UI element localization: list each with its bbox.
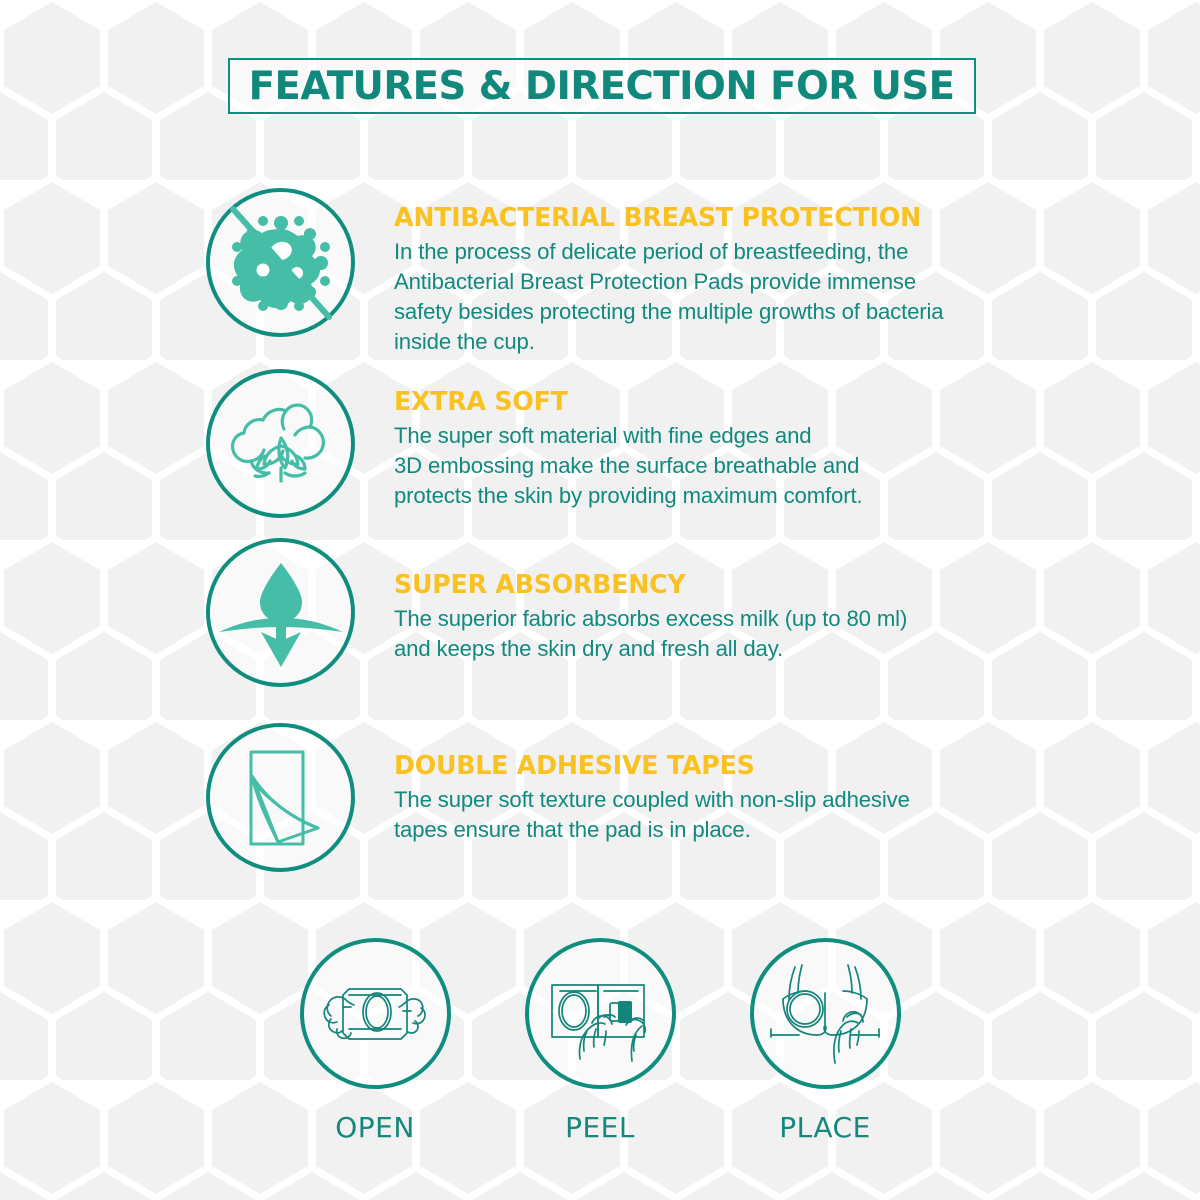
peel-tape-icon (206, 723, 355, 872)
feature-body-line: The super soft texture coupled with non-… (394, 785, 975, 815)
page-title: FEATURES & DIRECTION FOR USE (249, 64, 955, 109)
step-label: OPEN (335, 1111, 415, 1144)
feature-heading: SUPER ABSORBENCY (394, 572, 976, 599)
feature-body-line: and keeps the skin dry and fresh all day… (394, 634, 985, 664)
feature-body: In the process of delicate period of bre… (394, 237, 1005, 357)
feature-body: The super soft material with fine edges … (394, 421, 946, 511)
feature-text-double-adhesive-tapes: DOUBLE ADHESIVE TAPES The super soft tex… (394, 723, 984, 845)
water-droplet-absorb-icon (206, 538, 355, 687)
hands-opening-pack-icon (300, 938, 451, 1089)
feature-body-line: In the process of delicate period of bre… (394, 237, 1005, 267)
step-peel: PEEL (523, 938, 678, 1144)
feature-text-extra-soft: EXTRA SOFT The super soft material with … (394, 369, 954, 511)
feature-body-line: 3D embossing make the surface breathable… (394, 451, 946, 481)
page-title-box: FEATURES & DIRECTION FOR USE (228, 58, 976, 114)
feature-heading: DOUBLE ADHESIVE TAPES (394, 753, 966, 780)
feature-row-super-absorbency: SUPER ABSORBENCY The superior fabric abs… (206, 538, 994, 687)
feature-body-line: tapes ensure that the pad is in place. (394, 815, 975, 845)
step-label: PLACE (779, 1111, 871, 1144)
step-open: OPEN (298, 938, 453, 1144)
feature-body: The super soft texture coupled with non-… (394, 785, 975, 845)
feature-body-line: Antibacterial Breast Protection Pads pro… (394, 267, 1005, 297)
bra-placing-pad-icon (750, 938, 901, 1089)
feature-body-line: inside the cup. (394, 327, 1005, 357)
step-label: PEEL (565, 1111, 635, 1144)
feature-body-line: protects the skin by providing maximum c… (394, 481, 946, 511)
feature-body-line: The super soft material with fine edges … (394, 421, 946, 451)
feature-body: The superior fabric absorbs excess milk … (394, 604, 985, 664)
infographic-page: FEATURES & DIRECTION FOR USE (0, 0, 1200, 1200)
feature-text-antibacterial: ANTIBACTERIAL BREAST PROTECTION In the p… (394, 188, 1014, 357)
feature-row-extra-soft: EXTRA SOFT The super soft material with … (206, 369, 954, 518)
cotton-boll-icon (206, 369, 355, 518)
feature-heading: EXTRA SOFT (394, 389, 937, 416)
feature-text-super-absorbency: SUPER ABSORBENCY The superior fabric abs… (394, 538, 994, 664)
step-place: PLACE (748, 938, 903, 1144)
feature-body-line: safety besides protecting the multiple g… (394, 297, 1005, 327)
feature-body-line: The superior fabric absorbs excess milk … (394, 604, 985, 634)
hands-peeling-pad-icon (525, 938, 676, 1089)
direction-for-use-steps: OPEN (0, 938, 1200, 1144)
feature-heading: ANTIBACTERIAL BREAST PROTECTION (394, 205, 995, 232)
feature-row-antibacterial: ANTIBACTERIAL BREAST PROTECTION In the p… (206, 188, 1014, 357)
anti-bacteria-icon (206, 188, 355, 337)
feature-row-double-adhesive-tapes: DOUBLE ADHESIVE TAPES The super soft tex… (206, 723, 984, 872)
